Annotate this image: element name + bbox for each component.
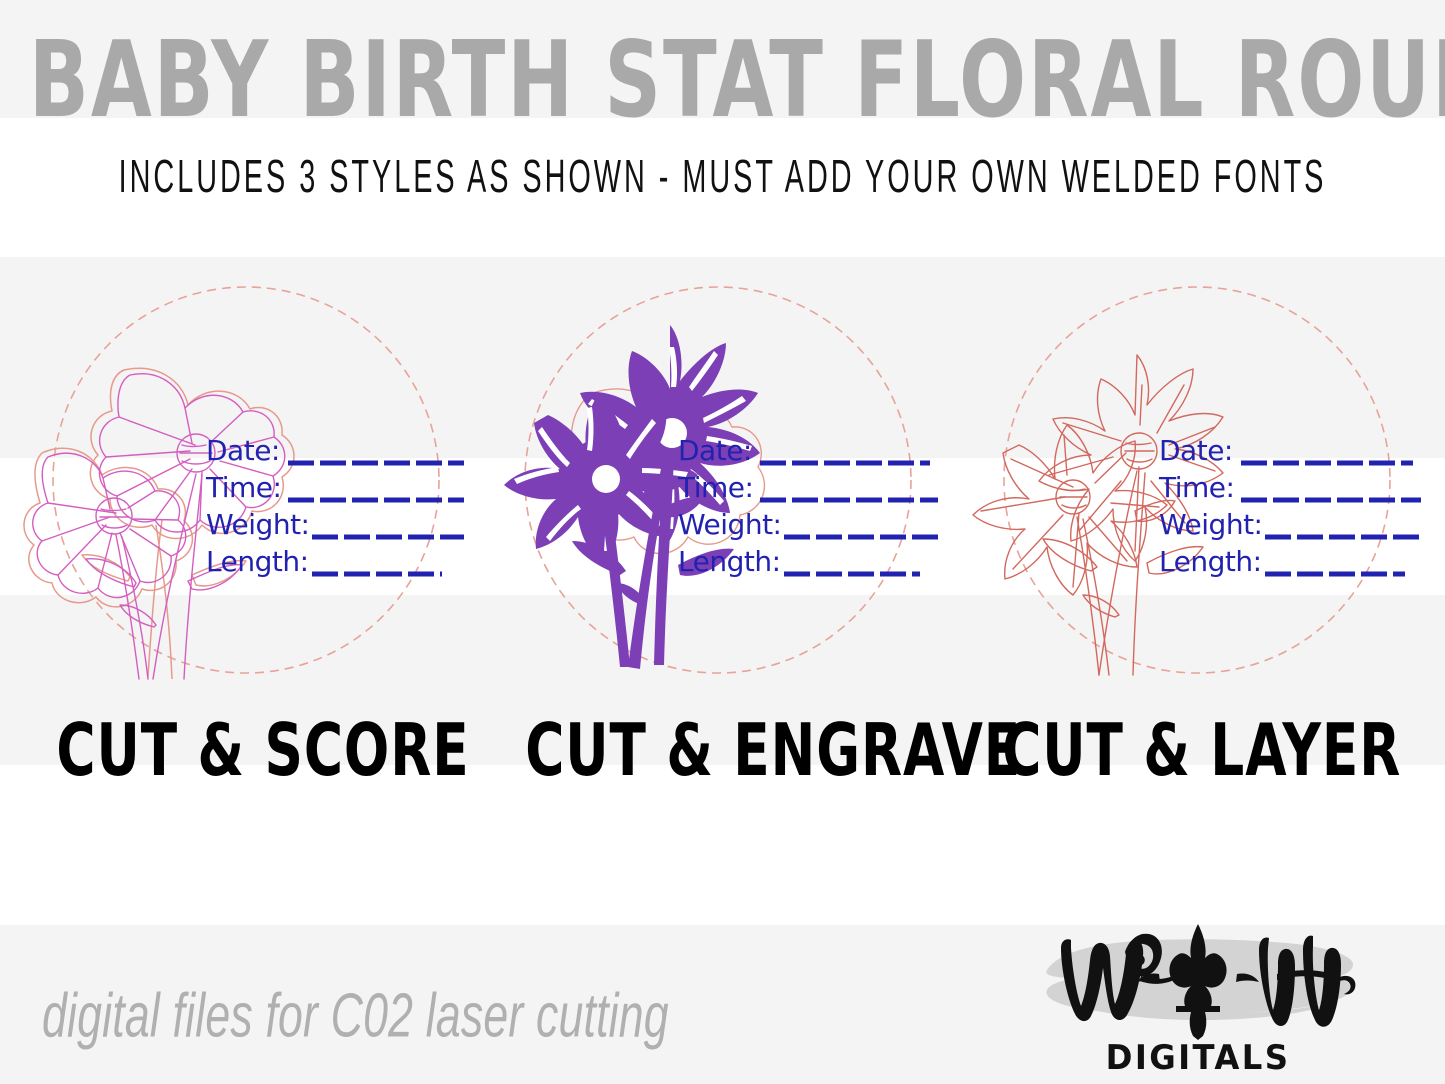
design-svg-cut-and-layer: Date: Time: Weight: Length:	[969, 275, 1439, 705]
stat-label-length: Length:	[678, 545, 781, 578]
style-label-cut-and-engrave: CUT & ENGRAVE	[525, 713, 921, 788]
footer-tagline: digital files for C02 laser cutting	[42, 980, 669, 1050]
stat-rule-lines	[288, 463, 464, 574]
design-svg-cut-and-score: Date: Time: Weight: Length:	[6, 275, 476, 705]
design-svg-cut-and-engrave: Date: Time: Weight: Length:	[488, 275, 958, 705]
logo-wordmark: DIGITALS	[1041, 1038, 1355, 1078]
stat-label-length: Length:	[1159, 545, 1262, 578]
design-preview-cut-and-engrave: Date: Time: Weight: Length:	[488, 275, 958, 705]
stat-label-time: Time:	[677, 471, 753, 504]
stat-label-weight: Weight:	[678, 508, 781, 541]
logo-monogram-icon	[1033, 922, 1363, 1040]
stat-rule-lines	[760, 463, 938, 574]
brand-logo: DIGITALS	[1033, 922, 1363, 1082]
design-preview-row: Date: Time: Weight: Length:	[0, 275, 1445, 715]
stat-field-group: Date: Time: Weight: Length:	[1158, 434, 1421, 578]
page-subtitle: INCLUDES 3 STYLES AS SHOWN - MUST ADD YO…	[51, 150, 1395, 204]
style-label-row: CUT & SCORE CUT & ENGRAVE CUT & LAYER	[0, 705, 1445, 795]
stat-label-time: Time:	[1158, 471, 1234, 504]
stat-rule-lines	[1241, 463, 1421, 574]
stat-label-date: Date:	[206, 434, 280, 467]
stat-label-time: Time:	[205, 471, 281, 504]
stat-label-weight: Weight:	[206, 508, 309, 541]
design-preview-cut-and-score: Date: Time: Weight: Length:	[6, 275, 476, 705]
design-preview-cut-and-layer: Date: Time: Weight: Length:	[969, 275, 1439, 705]
page-title: BABY BIRTH STAT FLORAL ROUND	[29, 20, 1416, 143]
style-label-cut-and-score: CUT & SCORE	[47, 713, 443, 788]
stat-label-weight: Weight:	[1159, 508, 1262, 541]
stat-label-date: Date:	[678, 434, 752, 467]
header: BABY BIRTH STAT FLORAL ROUND INCLUDES 3 …	[0, 0, 1445, 186]
style-label-cut-and-layer: CUT & LAYER	[1002, 713, 1398, 788]
stat-label-length: Length:	[206, 545, 309, 578]
stat-label-date: Date:	[1159, 434, 1233, 467]
stat-field-group: Date: Time: Weight: Length:	[205, 434, 464, 578]
